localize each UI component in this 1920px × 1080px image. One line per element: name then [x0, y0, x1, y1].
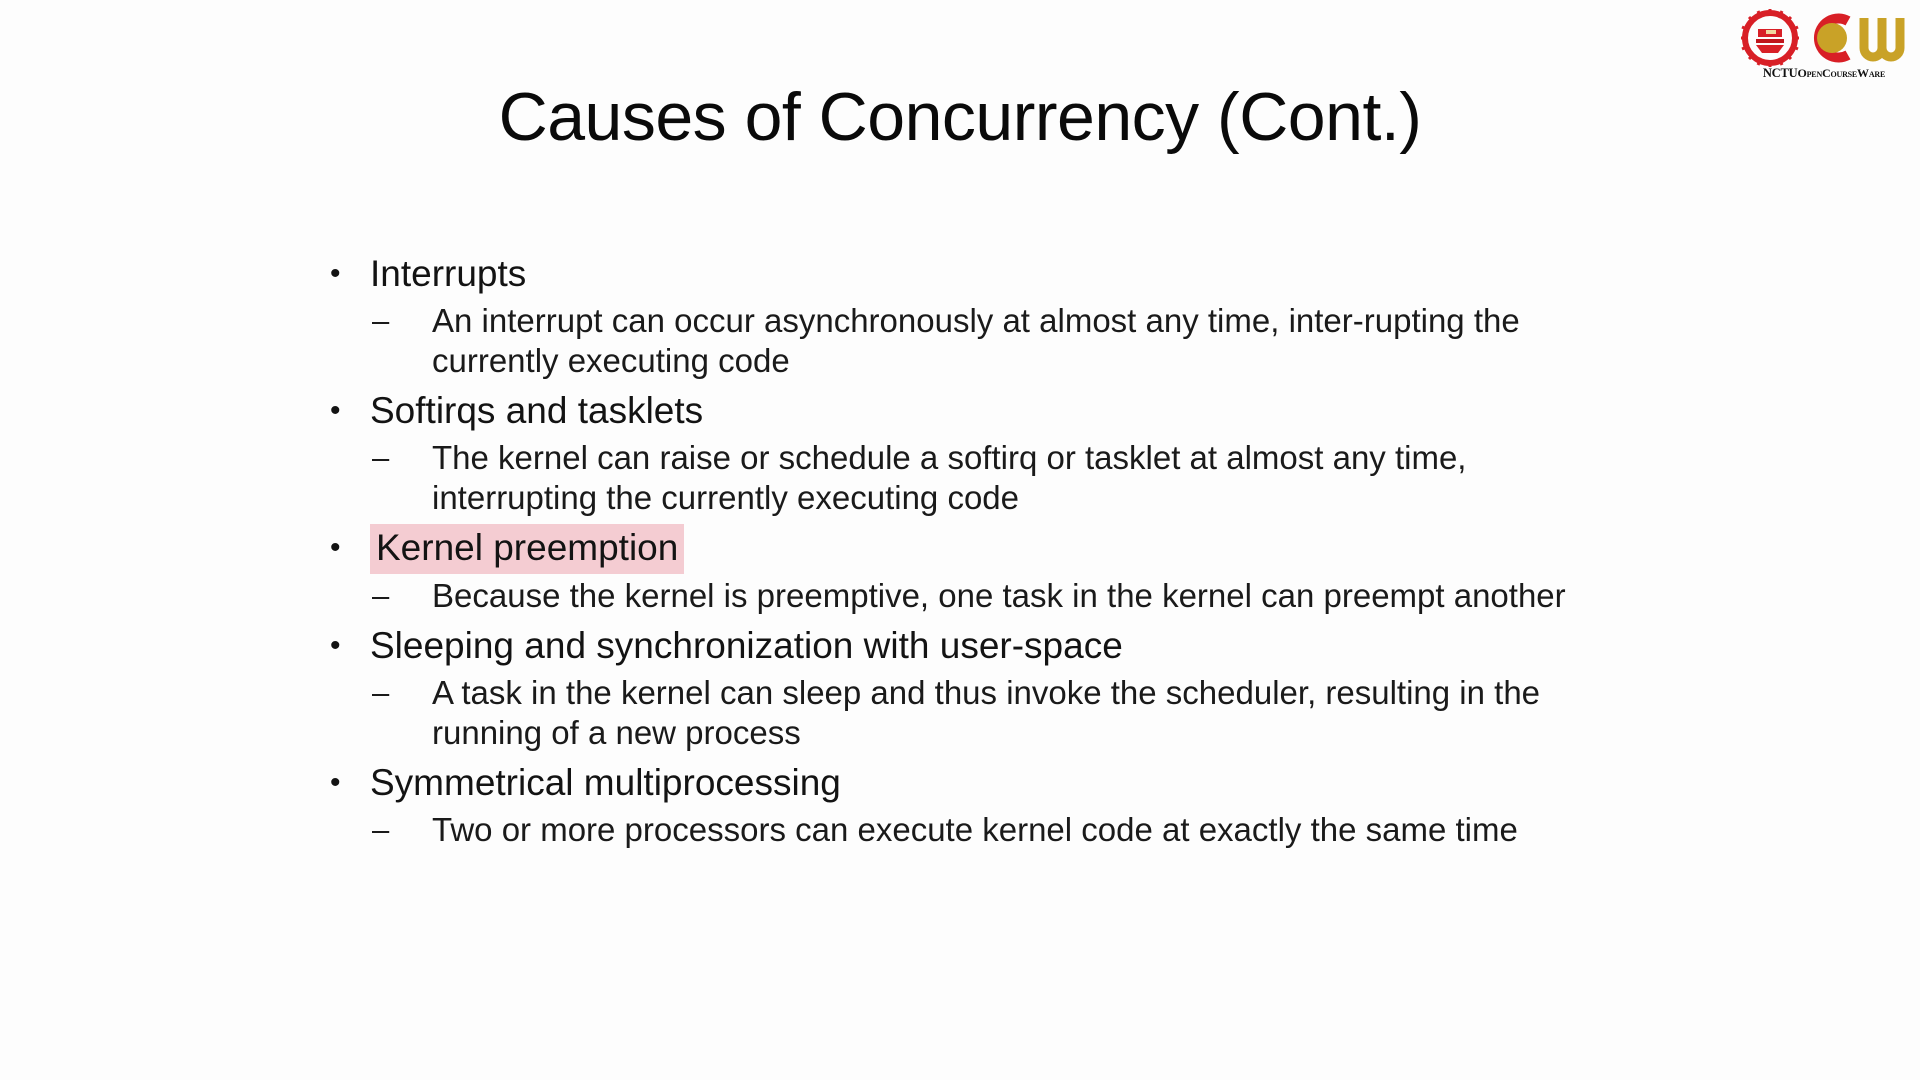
dash-marker-icon: –	[318, 673, 432, 713]
bullet-marker-icon: •	[318, 248, 370, 299]
list-item-label-wrapper: Kernel preemption	[370, 522, 1648, 574]
bullet-list: • Interrupts – An interrupt can occur as…	[318, 248, 1648, 854]
bullet-marker-icon: •	[318, 620, 370, 671]
sub-list-item-text: Two or more processors can execute kerne…	[432, 810, 1612, 850]
list-item-label: Sleeping and synchronization with user-s…	[370, 620, 1648, 671]
list-item-label: Softirqs and tasklets	[370, 385, 1648, 436]
dash-marker-icon: –	[318, 438, 432, 478]
bullet-marker-icon: •	[318, 522, 370, 573]
highlighted-text: Kernel preemption	[370, 524, 684, 574]
list-item: • Symmetrical multiprocessing	[318, 757, 1648, 808]
sub-list-item: – Two or more processors can execute ker…	[318, 810, 1648, 850]
sub-list-item-text: A task in the kernel can sleep and thus …	[432, 673, 1612, 753]
sub-list-item-text: An interrupt can occur asynchronously at…	[432, 301, 1612, 381]
sub-list-item: – Because the kernel is preemptive, one …	[318, 576, 1648, 616]
dash-marker-icon: –	[318, 810, 432, 850]
list-item: • Sleeping and synchronization with user…	[318, 620, 1648, 671]
sub-list-item: – An interrupt can occur asynchronously …	[318, 301, 1648, 381]
sub-list-item: – The kernel can raise or schedule a sof…	[318, 438, 1648, 518]
list-item: • Softirqs and tasklets	[318, 385, 1648, 436]
bullet-marker-icon: •	[318, 757, 370, 808]
list-item-label: Interrupts	[370, 248, 1648, 299]
sub-list-item-text: Because the kernel is preemptive, one ta…	[432, 576, 1612, 616]
page-title: Causes of Concurrency (Cont.)	[0, 74, 1920, 160]
dash-marker-icon: –	[318, 301, 432, 341]
dash-marker-icon: –	[318, 576, 432, 616]
ocw-logo-icon	[1736, 8, 1912, 68]
slide-canvas: NCTUOpenCourseWare Causes of Concurrency…	[0, 0, 1920, 1080]
bullet-marker-icon: •	[318, 385, 370, 436]
list-item: • Interrupts	[318, 248, 1648, 299]
sub-list-item-text: The kernel can raise or schedule a softi…	[432, 438, 1612, 518]
list-item-label: Symmetrical multiprocessing	[370, 757, 1648, 808]
sub-list-item: – A task in the kernel can sleep and thu…	[318, 673, 1648, 753]
list-item-highlighted: • Kernel preemption	[318, 522, 1648, 574]
